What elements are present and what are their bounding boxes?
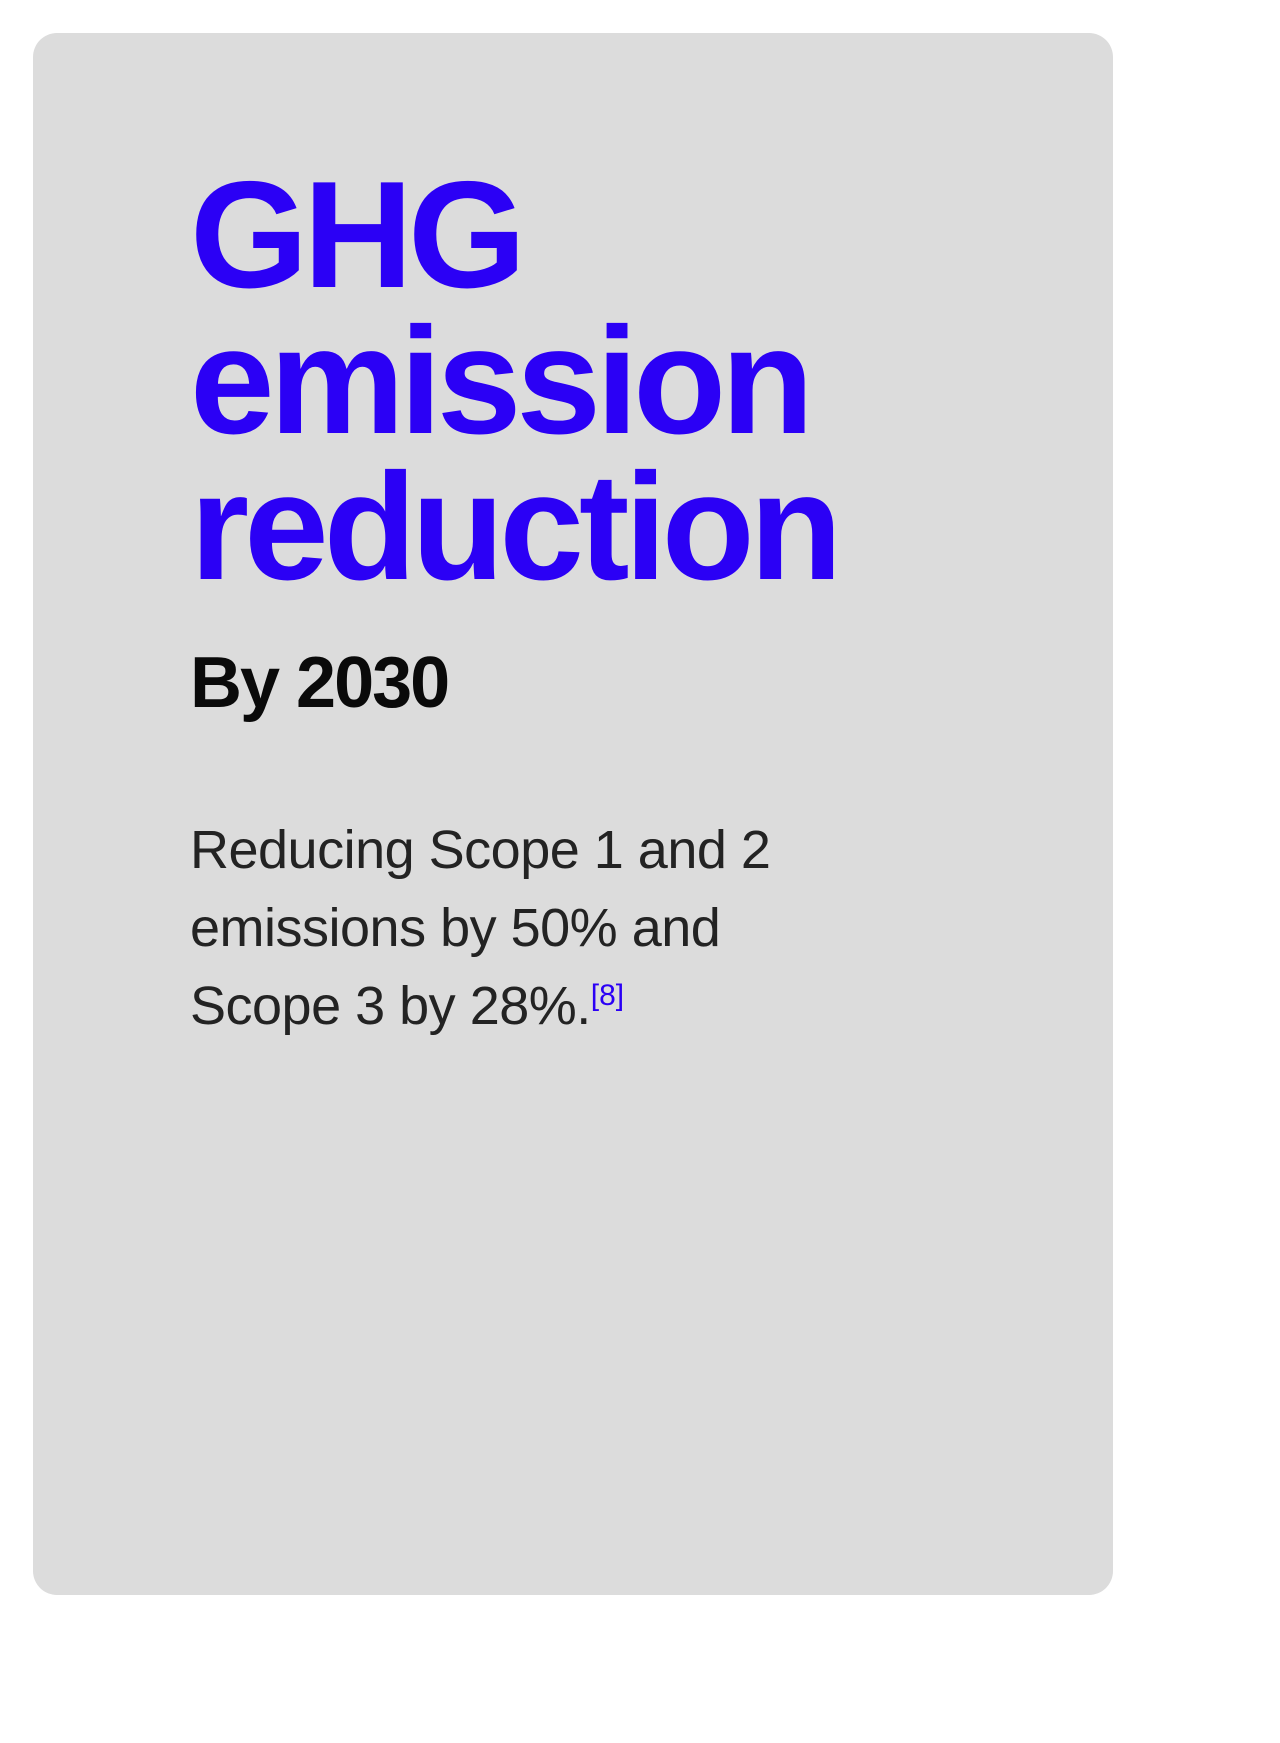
card-content: GHG emission reduction By 2030 Reducing … (190, 163, 1073, 1046)
body-description: Reducing Scope 1 and 2 emissions by 50% … (190, 811, 830, 1046)
headline-line-2: emission (190, 309, 910, 455)
page-title: GHG emission reduction (190, 163, 910, 601)
page-root: GHG emission reduction By 2030 Reducing … (0, 0, 1280, 1743)
ghg-emission-reduction-card: GHG emission reduction By 2030 Reducing … (33, 33, 1113, 1595)
citation-link-8[interactable]: [8] (591, 979, 624, 1012)
subheading-target-year: By 2030 (190, 647, 1073, 719)
headline-line-1: GHG (190, 163, 910, 309)
body-description-text: Reducing Scope 1 and 2 emissions by 50% … (190, 820, 770, 1037)
headline-line-3: reduction (190, 455, 910, 601)
